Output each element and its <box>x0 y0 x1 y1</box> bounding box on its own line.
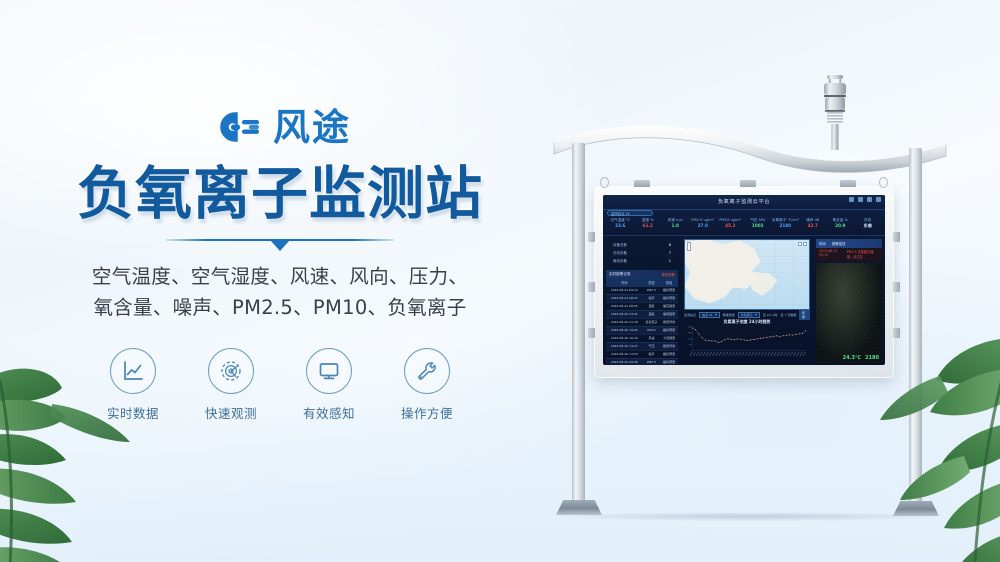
chevron-down-icon <box>755 314 757 316</box>
range-option-7d[interactable]: 近 7 天数据 <box>781 313 797 317</box>
svg-text:09:00: 09:00 <box>719 352 722 357</box>
svg-text:04:00: 04:00 <box>780 352 783 357</box>
user-icon[interactable] <box>867 197 872 202</box>
datatype-select-value: 负氧离子 <box>741 313 753 317</box>
device-stat-value: 1 <box>669 259 671 264</box>
metric-value: 1.8 <box>662 223 689 229</box>
table-cell: 负氧离子 <box>643 318 661 326</box>
datatype-select[interactable]: 负氧离子 <box>738 312 760 317</box>
table-cell: 2023-08-20 16:44 <box>606 334 643 342</box>
map-zoom-icon[interactable] <box>687 242 691 251</box>
brand-logo: 风途 <box>209 104 351 150</box>
metric-card[interactable]: 氧含量 %20.9 <box>827 218 854 230</box>
side-hinge-icon <box>588 282 595 292</box>
select2-label: 数据类型 <box>723 313 735 317</box>
metric-value: 42.7 <box>800 223 827 229</box>
svg-text:19:00: 19:00 <box>751 352 754 357</box>
table-cell: 偏高报警 <box>660 302 678 310</box>
table-cell: 湿度 <box>643 302 661 310</box>
svg-text:10:00: 10:00 <box>722 352 725 357</box>
metric-card[interactable]: 湿度 %61.2 <box>635 218 662 230</box>
svg-text:06:00: 06:00 <box>787 352 790 357</box>
side-lock-icon <box>893 282 900 292</box>
svg-text:05:00: 05:00 <box>706 352 709 357</box>
table-cell: 超标预警 <box>660 287 678 295</box>
svg-text:03:00: 03:00 <box>777 352 780 357</box>
device-stat-row: 在线设备7 <box>608 250 676 258</box>
table-cell: 数值异常 <box>660 342 678 350</box>
feature-item-effective-sensing[interactable]: 有效感知 <box>295 348 363 422</box>
svg-text:16:00: 16:00 <box>741 352 744 357</box>
svg-text:07:00: 07:00 <box>790 352 793 357</box>
table-row[interactable]: 2023-08-21 08:47噪声超标预警 <box>606 294 678 302</box>
device-stat-label: 离线设备 <box>613 259 627 264</box>
device-stat-row: 离线设备1 <box>608 258 676 266</box>
metric-value: 2180 <box>772 223 799 229</box>
table-cell: 气压 <box>643 342 661 350</box>
svg-text:14:00: 14:00 <box>735 352 738 357</box>
tropical-leaf-icon <box>844 328 1000 562</box>
svg-text:24:00: 24:00 <box>767 352 770 357</box>
table-cell: 超标预警 <box>660 358 678 365</box>
table-cell: 2023-08-21 08:47 <box>606 294 643 302</box>
svg-text:1750: 1750 <box>689 338 692 340</box>
alarm-column-header: 类型 <box>643 278 661 286</box>
station-selector-pill[interactable]: 监测站点 01 <box>607 210 653 216</box>
svg-text:0: 0 <box>691 350 692 352</box>
table-row[interactable]: 2023-08-20 19:02PM10超标预警 <box>606 326 678 334</box>
table-cell: 2023-08-20 14:27 <box>606 342 643 350</box>
svg-text:21:00: 21:00 <box>758 352 761 357</box>
alarm-table-header: 时间类型数值 <box>606 278 678 286</box>
table-cell: 2023-08-21 09:12 <box>606 287 643 295</box>
alarm-column-header: 数值 <box>660 278 678 286</box>
feature-subtitle: 空气温度、空气湿度、风速、风向、压力、 氧含量、噪声、PM2.5、PM10、负氧… <box>92 262 468 324</box>
table-cell: 噪声 <box>643 294 661 302</box>
map-layer-icon[interactable] <box>798 242 808 246</box>
metric-value: 东南 <box>855 223 882 229</box>
trend-chart: 负氧离子浓度 24小时趋势 350026251750875000:0001:00… <box>684 318 810 362</box>
station-pill-label: 监测站点 01 <box>608 211 652 217</box>
subtitle-line-1: 空气温度、空气湿度、风速、风向、压力、 <box>92 262 468 293</box>
support-pole-left <box>572 143 585 510</box>
table-row[interactable]: 2023-08-20 23:31温度偏低报警 <box>606 310 678 318</box>
table-row[interactable]: 2023-08-20 21:18负氧离子数值异常 <box>606 318 678 326</box>
metric-card[interactable]: 噪声 dB42.7 <box>800 218 827 230</box>
feature-label: 操作方便 <box>401 403 453 422</box>
alarm-table: 时间类型数值 2023-08-21 09:12PM2.5超标预警2023-08-… <box>606 278 678 365</box>
table-row[interactable]: 2023-08-21 08:05湿度偏高报警 <box>606 302 678 310</box>
feature-icon-circle <box>208 348 254 394</box>
svg-text:10:00: 10:00 <box>800 352 803 357</box>
svg-text:20:00: 20:00 <box>754 352 757 357</box>
dashboard-body: 设备总数8在线设备7离线设备1 实时报警记录 更多报警 时间类型数值 2023-… <box>603 236 885 365</box>
event-table-header: 时间 报警描述 <box>816 239 882 248</box>
table-cell: 偏低报警 <box>660 310 678 318</box>
metric-card[interactable]: PM2.5 ug/m³27.0 <box>690 218 717 230</box>
alarm-panel-header: 实时报警记录 更多报警 <box>606 270 678 278</box>
map-control-1[interactable] <box>798 242 802 246</box>
mount-bracket-icon <box>740 180 756 187</box>
alarm-more-link[interactable]: 更多报警 <box>661 272 675 277</box>
wrench-icon <box>415 359 439 383</box>
mount-bracket-icon <box>634 180 650 187</box>
radar-scan-icon <box>219 359 243 383</box>
table-cell: 2023-08-21 08:05 <box>606 302 643 310</box>
table-cell: 2023-08-20 21:18 <box>606 318 643 326</box>
brand-name: 风途 <box>273 109 351 146</box>
device-stat-label: 设备总数 <box>613 243 627 248</box>
dashboard-header: 负氧离子监测云平台 <box>603 195 885 210</box>
map-control-2[interactable] <box>803 242 807 246</box>
alarm-panel-title: 实时报警记录 <box>609 272 631 277</box>
page-title: 负氧离子监测站 <box>77 164 483 224</box>
table-row[interactable]: 2023-08-20 09:36PM2.5超标预警 <box>606 358 678 365</box>
title-divider <box>166 236 394 252</box>
side-lock-icon <box>893 232 900 242</box>
event-row-time: 2023-08-21 09:12 <box>819 249 841 259</box>
metric-value: 20.9 <box>827 223 854 229</box>
table-cell: PM2.5 <box>643 287 661 295</box>
table-cell: 2023-08-20 19:02 <box>606 326 643 334</box>
metric-card[interactable]: 空气温度 ℃23.6 <box>607 218 634 230</box>
table-row[interactable]: 2023-08-20 11:53噪声超标预警 <box>606 350 678 358</box>
device-stat-row: 设备总数8 <box>608 242 676 250</box>
svg-text:13:00: 13:00 <box>732 352 735 357</box>
base-plate-left <box>556 500 602 515</box>
svg-text:02:00: 02:00 <box>774 352 777 357</box>
table-cell: 超标预警 <box>660 294 678 302</box>
device-stat-value: 8 <box>669 243 671 248</box>
dashboard-screen[interactable]: 负氧离子监测云平台 监测站点 01 空气温度 ℃23.6湿度 %61.2风速 m… <box>603 195 885 365</box>
table-cell: 温度 <box>643 310 661 318</box>
table-cell: 风速 <box>643 334 661 342</box>
side-hinge-icon <box>588 328 595 338</box>
svg-text:05:00: 05:00 <box>784 352 787 357</box>
grid-icon[interactable] <box>849 197 854 202</box>
svg-text:06:00: 06:00 <box>709 352 712 357</box>
svg-text:2625: 2625 <box>689 332 692 334</box>
table-cell: 噪声 <box>643 350 661 358</box>
device-stats: 设备总数8在线设备7离线设备1 <box>606 239 678 268</box>
metric-card[interactable]: 风向东南 <box>855 218 882 230</box>
svg-text:08:00: 08:00 <box>793 352 796 357</box>
side-hinge-icon <box>588 232 595 242</box>
metric-card[interactable]: 风速 m/s1.8 <box>662 218 689 230</box>
mount-ring-icon <box>600 177 609 188</box>
table-cell: 超标预警 <box>660 326 678 334</box>
select1-label: 监测站点 <box>684 313 696 317</box>
alarm-table-body: 2023-08-21 09:12PM2.5超标预警2023-08-21 08:4… <box>606 287 678 365</box>
fengtu-wind-g-icon <box>209 107 263 147</box>
event-col-desc: 报警描述 <box>832 241 846 246</box>
subtitle-line-2: 氧含量、噪声、PM2.5、PM10、负氧离子 <box>92 293 468 324</box>
metric-card[interactable]: 气压 hPa1002 <box>745 218 772 230</box>
alarm-column-header: 时间 <box>606 278 643 286</box>
china-map-icon[interactable] <box>684 239 810 310</box>
metric-value: 61.2 <box>635 223 662 229</box>
device-stat-label: 在线设备 <box>613 251 627 256</box>
svg-text:01:00: 01:00 <box>693 352 696 357</box>
feature-label: 有效感知 <box>303 403 355 422</box>
table-row[interactable]: 2023-08-20 16:44风速大风报警 <box>606 334 678 342</box>
chevron-down-icon <box>715 314 717 316</box>
svg-text:23:00: 23:00 <box>764 352 767 357</box>
svg-text:18:00: 18:00 <box>748 352 751 357</box>
metric-value: 1002 <box>745 223 772 229</box>
station-select[interactable]: 站点 01 <box>699 312 720 317</box>
table-cell: 2023-08-20 11:53 <box>606 350 643 358</box>
svg-text:22:00: 22:00 <box>761 352 764 357</box>
mount-ring-icon <box>879 177 888 188</box>
table-cell: PM10 <box>643 326 661 334</box>
mount-bracket-icon <box>840 180 856 187</box>
svg-text:02:00: 02:00 <box>696 352 699 357</box>
svg-text:875: 875 <box>689 344 691 346</box>
dashboard-title: 负氧离子监测云平台 <box>718 198 770 205</box>
svg-text:07:00: 07:00 <box>712 352 715 357</box>
monitor-screen-icon <box>317 359 341 383</box>
svg-text:08:00: 08:00 <box>715 352 718 357</box>
svg-text:17:00: 17:00 <box>745 352 748 357</box>
table-cell: 2023-08-20 23:31 <box>606 310 643 318</box>
table-row[interactable]: 2023-08-20 14:27气压数值异常 <box>606 342 678 350</box>
metric-value: 23.6 <box>607 223 634 229</box>
svg-text:11:00: 11:00 <box>803 352 806 357</box>
event-col-time: 时间 <box>819 241 826 246</box>
station-select-value: 站点 01 <box>702 313 713 317</box>
device-stat-value: 7 <box>669 251 671 256</box>
feature-item-easy-operation[interactable]: 操作方便 <box>393 348 461 422</box>
trend-chart-svg: 350026251750875000:0001:0002:0003:0004:0… <box>687 320 807 362</box>
feature-icon-circle <box>404 348 450 394</box>
event-table-row[interactable]: 2023-08-21 09:12 PM2.5 浓度超过阈值，请注意 <box>816 248 882 262</box>
caret-down-icon <box>271 241 289 251</box>
dashboard-center-panel: 监测站点 站点 01 数据类型 负氧离子 近 24 小时 近 7 天数据 查询 <box>681 236 813 365</box>
metric-value: 27.0 <box>690 223 717 229</box>
feature-item-fast-observation[interactable]: 快速观测 <box>197 348 265 422</box>
svg-text:09:00: 09:00 <box>796 352 799 357</box>
metric-card[interactable]: 负氧离子 个/cm³2180 <box>772 218 799 230</box>
svg-text:03:00: 03:00 <box>699 352 702 357</box>
table-cell: 2023-08-20 09:36 <box>606 358 643 365</box>
svg-text:11:00: 11:00 <box>725 352 728 357</box>
settings-icon[interactable] <box>876 197 881 202</box>
tropical-leaf-icon <box>0 342 188 562</box>
dashboard-left-panel: 设备总数8在线设备7离线设备1 实时报警记录 更多报警 时间类型数值 2023-… <box>603 236 681 365</box>
svg-text:01:00: 01:00 <box>771 352 774 357</box>
dashboard-toolbar[interactable] <box>849 197 881 202</box>
table-cell: 数值异常 <box>660 318 678 326</box>
table-row[interactable]: 2023-08-21 09:12PM2.5超标预警 <box>606 287 678 295</box>
wave-canopy-icon <box>550 120 950 180</box>
svg-text:12:00: 12:00 <box>728 352 731 357</box>
svg-text:3500: 3500 <box>689 326 692 328</box>
bell-icon[interactable] <box>858 197 863 202</box>
table-cell: 大风报警 <box>660 334 678 342</box>
svg-text:15:00: 15:00 <box>738 352 741 357</box>
table-cell: PM2.5 <box>643 358 661 365</box>
event-row-desc: PM2.5 浓度超过阈值，请注意 <box>847 249 879 259</box>
range-option-24h[interactable]: 近 24 小时 <box>763 313 778 317</box>
svg-text:04:00: 04:00 <box>703 352 706 357</box>
chart-title: 负氧离子浓度 24小时趋势 <box>724 319 771 325</box>
table-cell: 超标预警 <box>660 350 678 358</box>
metric-value: 45.3 <box>717 223 744 229</box>
feature-label: 快速观测 <box>205 403 257 422</box>
metric-card[interactable]: PM10 ug/m³45.3 <box>717 218 744 230</box>
feature-icon-circle <box>306 348 352 394</box>
